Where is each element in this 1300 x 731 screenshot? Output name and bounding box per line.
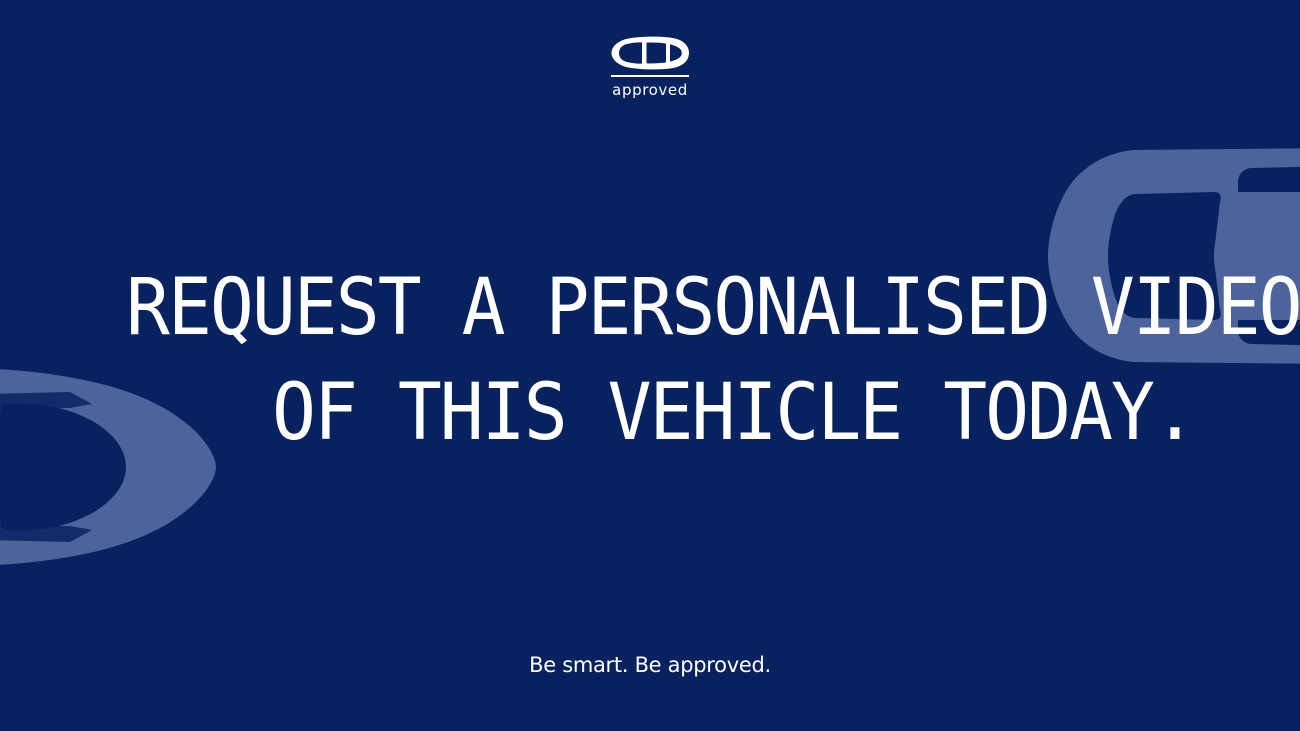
headline-line-2: OF THIS VEHICLE TODAY.: [0, 373, 1300, 452]
brand-wordmark: approved: [612, 83, 688, 98]
horizontal-rule-divider: [611, 75, 689, 77]
brand-logo: approved: [0, 36, 1300, 98]
promo-slide: approved REQUEST A PERSONALISED VIDEO OF…: [0, 0, 1300, 731]
headline-line-1: REQUEST A PERSONALISED VIDEO: [0, 268, 1300, 347]
headline: REQUEST A PERSONALISED VIDEO OF THIS VEH…: [0, 268, 1300, 446]
tagline: Be smart. Be approved.: [0, 655, 1300, 676]
car-top-view-icon: [611, 36, 689, 70]
